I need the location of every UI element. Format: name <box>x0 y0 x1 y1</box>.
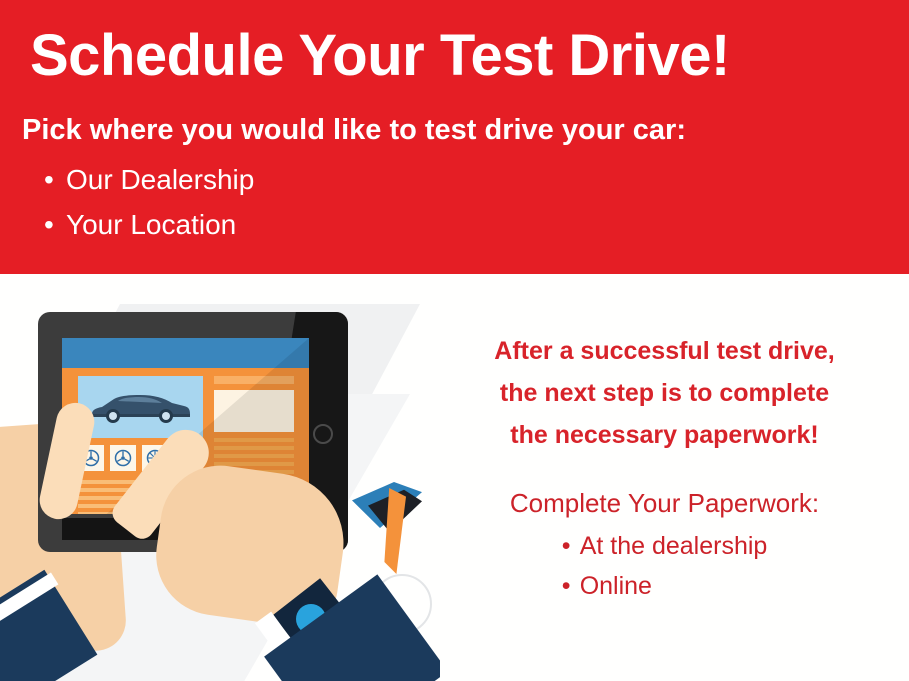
paperwork-option-list: •At the dealership •Online <box>562 526 768 606</box>
option-label: At the dealership <box>580 532 768 560</box>
option-label: Your Location <box>66 209 236 240</box>
promo-line-2: the next step is to complete <box>420 372 909 414</box>
header-banner: Schedule Your Test Drive! Pick where you… <box>0 0 909 274</box>
text-line <box>214 446 294 450</box>
infographic-page: Schedule Your Test Drive! Pick where you… <box>0 0 909 681</box>
sidebar-image-box <box>214 390 294 432</box>
text-line <box>214 438 294 442</box>
test-drive-location-list: •Our Dealership •Your Location <box>44 157 254 247</box>
sidebar-title-bar <box>214 376 294 384</box>
app-header-bar <box>62 338 309 368</box>
bullet-icon: • <box>562 526 580 566</box>
page-title: Schedule Your Test Drive! <box>30 24 730 88</box>
paperwork-text-column: After a successful test drive, the next … <box>420 330 909 606</box>
wheel-rim-five-spoke-icon <box>114 449 132 467</box>
promo-line-3: the necessary paperwork! <box>420 414 909 456</box>
banner-subheading: Pick where you would like to test drive … <box>22 113 686 147</box>
tablet-illustration <box>0 274 440 681</box>
home-button[interactable] <box>313 424 333 444</box>
option-label: Our Dealership <box>66 164 254 195</box>
text-line <box>214 454 294 458</box>
car-icon <box>88 390 192 426</box>
bullet-icon: • <box>44 202 66 247</box>
paperwork-heading: Complete Your Paperwork: <box>420 486 909 520</box>
bullet-icon: • <box>562 566 580 606</box>
option-label: Online <box>580 572 652 600</box>
wheel-option-tile[interactable] <box>110 445 136 471</box>
promo-line-1: After a successful test drive, <box>420 330 909 372</box>
list-item[interactable]: •At the dealership <box>562 526 768 566</box>
bullet-icon: • <box>44 157 66 202</box>
list-item[interactable]: •Online <box>562 566 768 606</box>
list-item[interactable]: •Your Location <box>44 202 254 247</box>
list-item[interactable]: •Our Dealership <box>44 157 254 202</box>
